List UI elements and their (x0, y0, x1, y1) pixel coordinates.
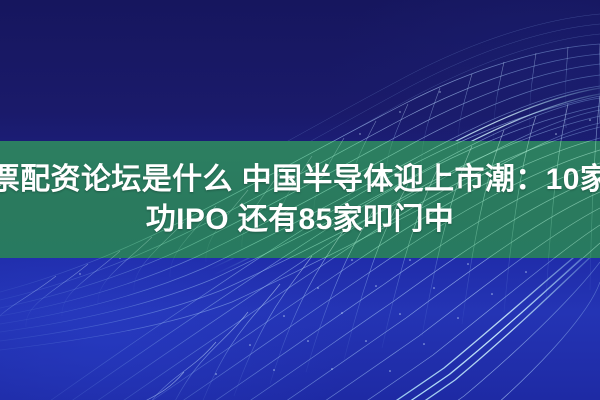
headline-line-2: 功IPO 还有85家叩门中 (146, 200, 455, 240)
article-banner: 股票配资论坛是什么 中国半导体迎上市潮：10家成 功IPO 还有85家叩门中 (0, 0, 600, 400)
headline-line-1: 股票配资论坛是什么 中国半导体迎上市潮：10家成 (0, 160, 600, 200)
headline-text: 股票配资论坛是什么 中国半导体迎上市潮：10家成 功IPO 还有85家叩门中 (0, 141, 600, 258)
